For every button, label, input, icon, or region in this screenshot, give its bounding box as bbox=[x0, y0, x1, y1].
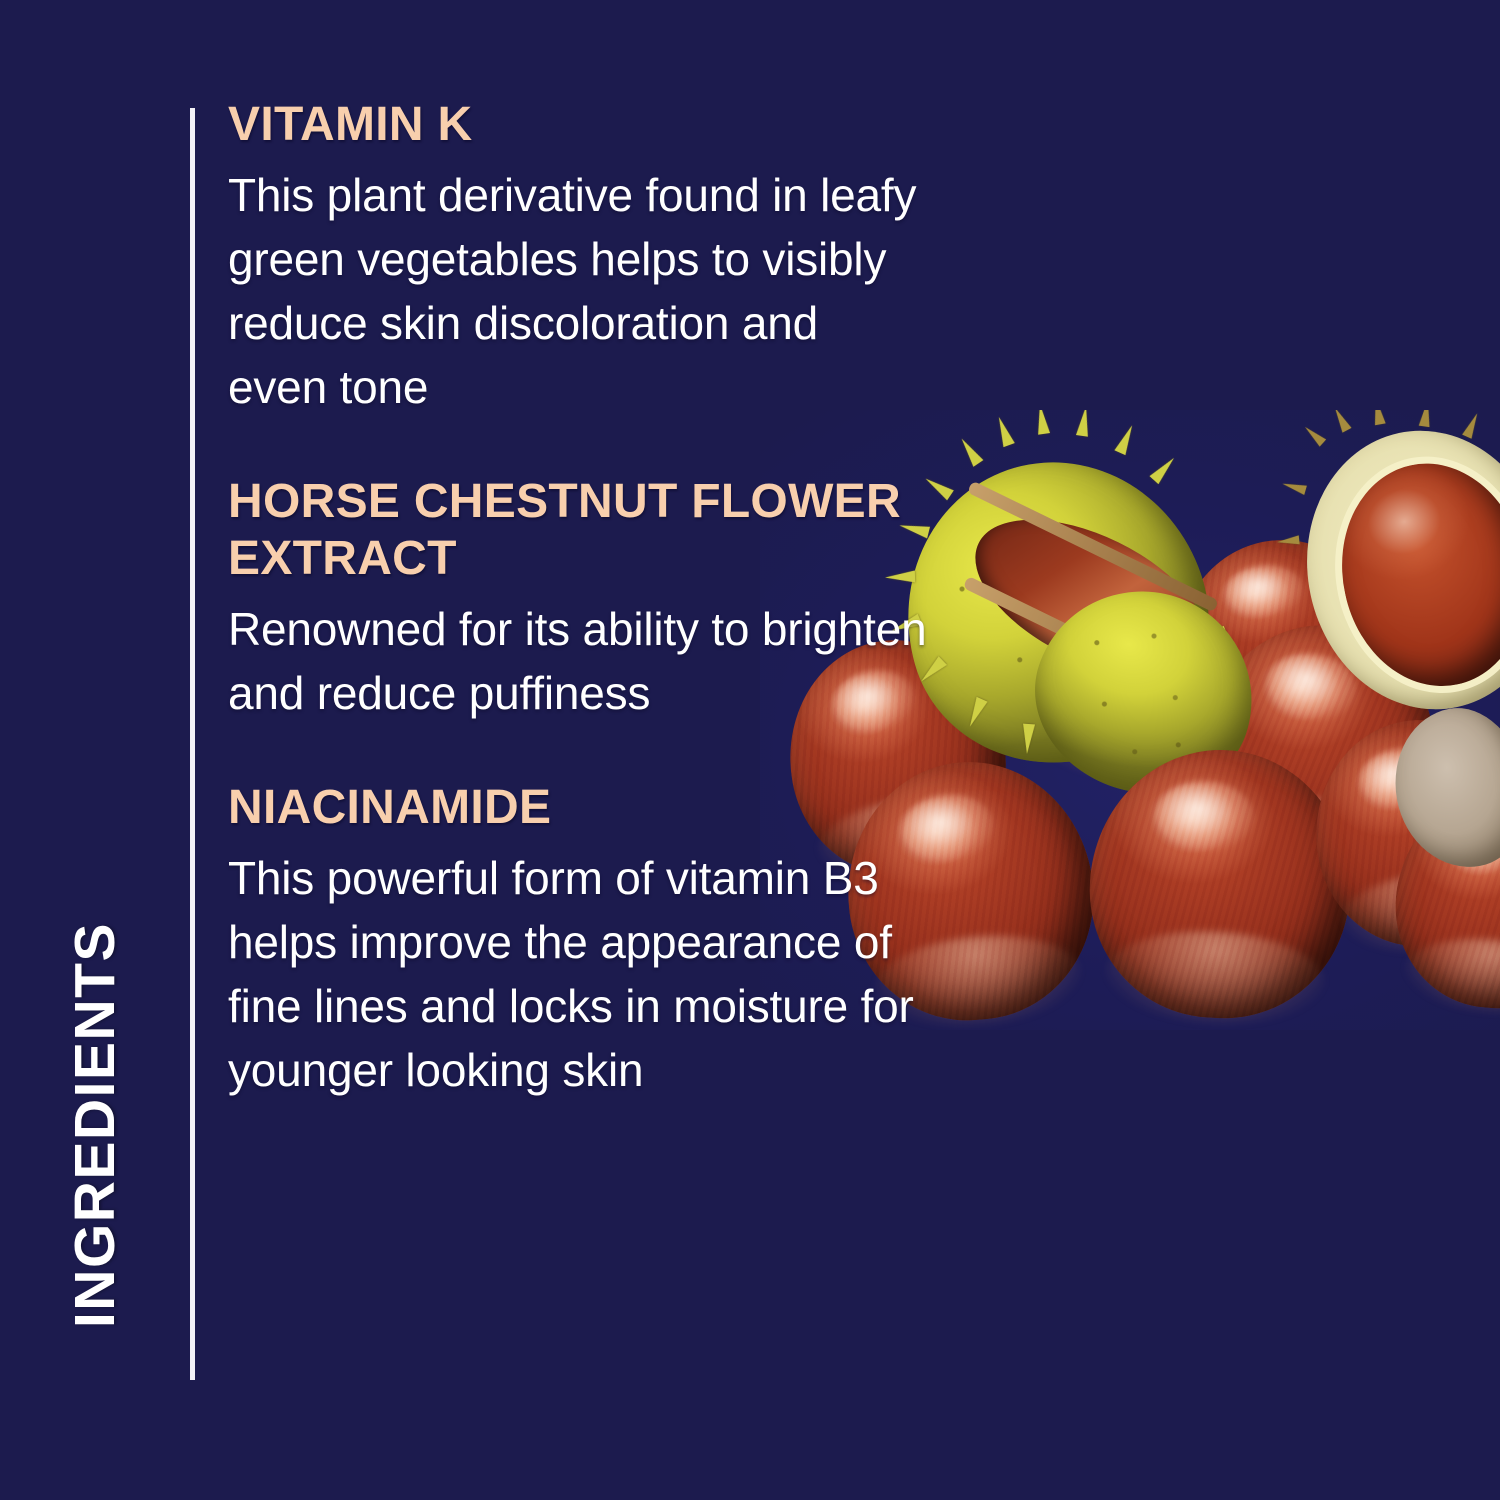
ingredients-vertical-label: INGREDIENTS bbox=[62, 865, 128, 1385]
ingredient-title: NIACINAMIDE bbox=[228, 779, 928, 836]
ingredient-body: This plant derivative found in leafy gre… bbox=[228, 163, 928, 419]
vertical-divider bbox=[190, 108, 195, 1380]
ingredients-panel: INGREDIENTS VITAMIN K This plant derivat… bbox=[0, 0, 1500, 1500]
husk-spike bbox=[1021, 724, 1035, 755]
ingredients-content: VITAMIN K This plant derivative found in… bbox=[228, 96, 928, 1102]
ingredient-body: This powerful form of vitamin B3 helps i… bbox=[228, 846, 928, 1102]
ingredient-title: VITAMIN K bbox=[228, 96, 928, 153]
ingredient-section-horse-chestnut-flower-extract: HORSE CHESTNUT FLOWER EXTRACT Renowned f… bbox=[228, 473, 928, 725]
shell-inner-nut bbox=[1321, 446, 1500, 703]
ingredient-title: HORSE CHESTNUT FLOWER EXTRACT bbox=[228, 473, 928, 587]
ingredient-section-vitamin-k: VITAMIN K This plant derivative found in… bbox=[228, 96, 928, 419]
ingredient-body: Renowned for its ability to brighten and… bbox=[228, 597, 928, 725]
ingredient-section-niacinamide: NIACINAMIDE This powerful form of vitami… bbox=[228, 779, 928, 1102]
